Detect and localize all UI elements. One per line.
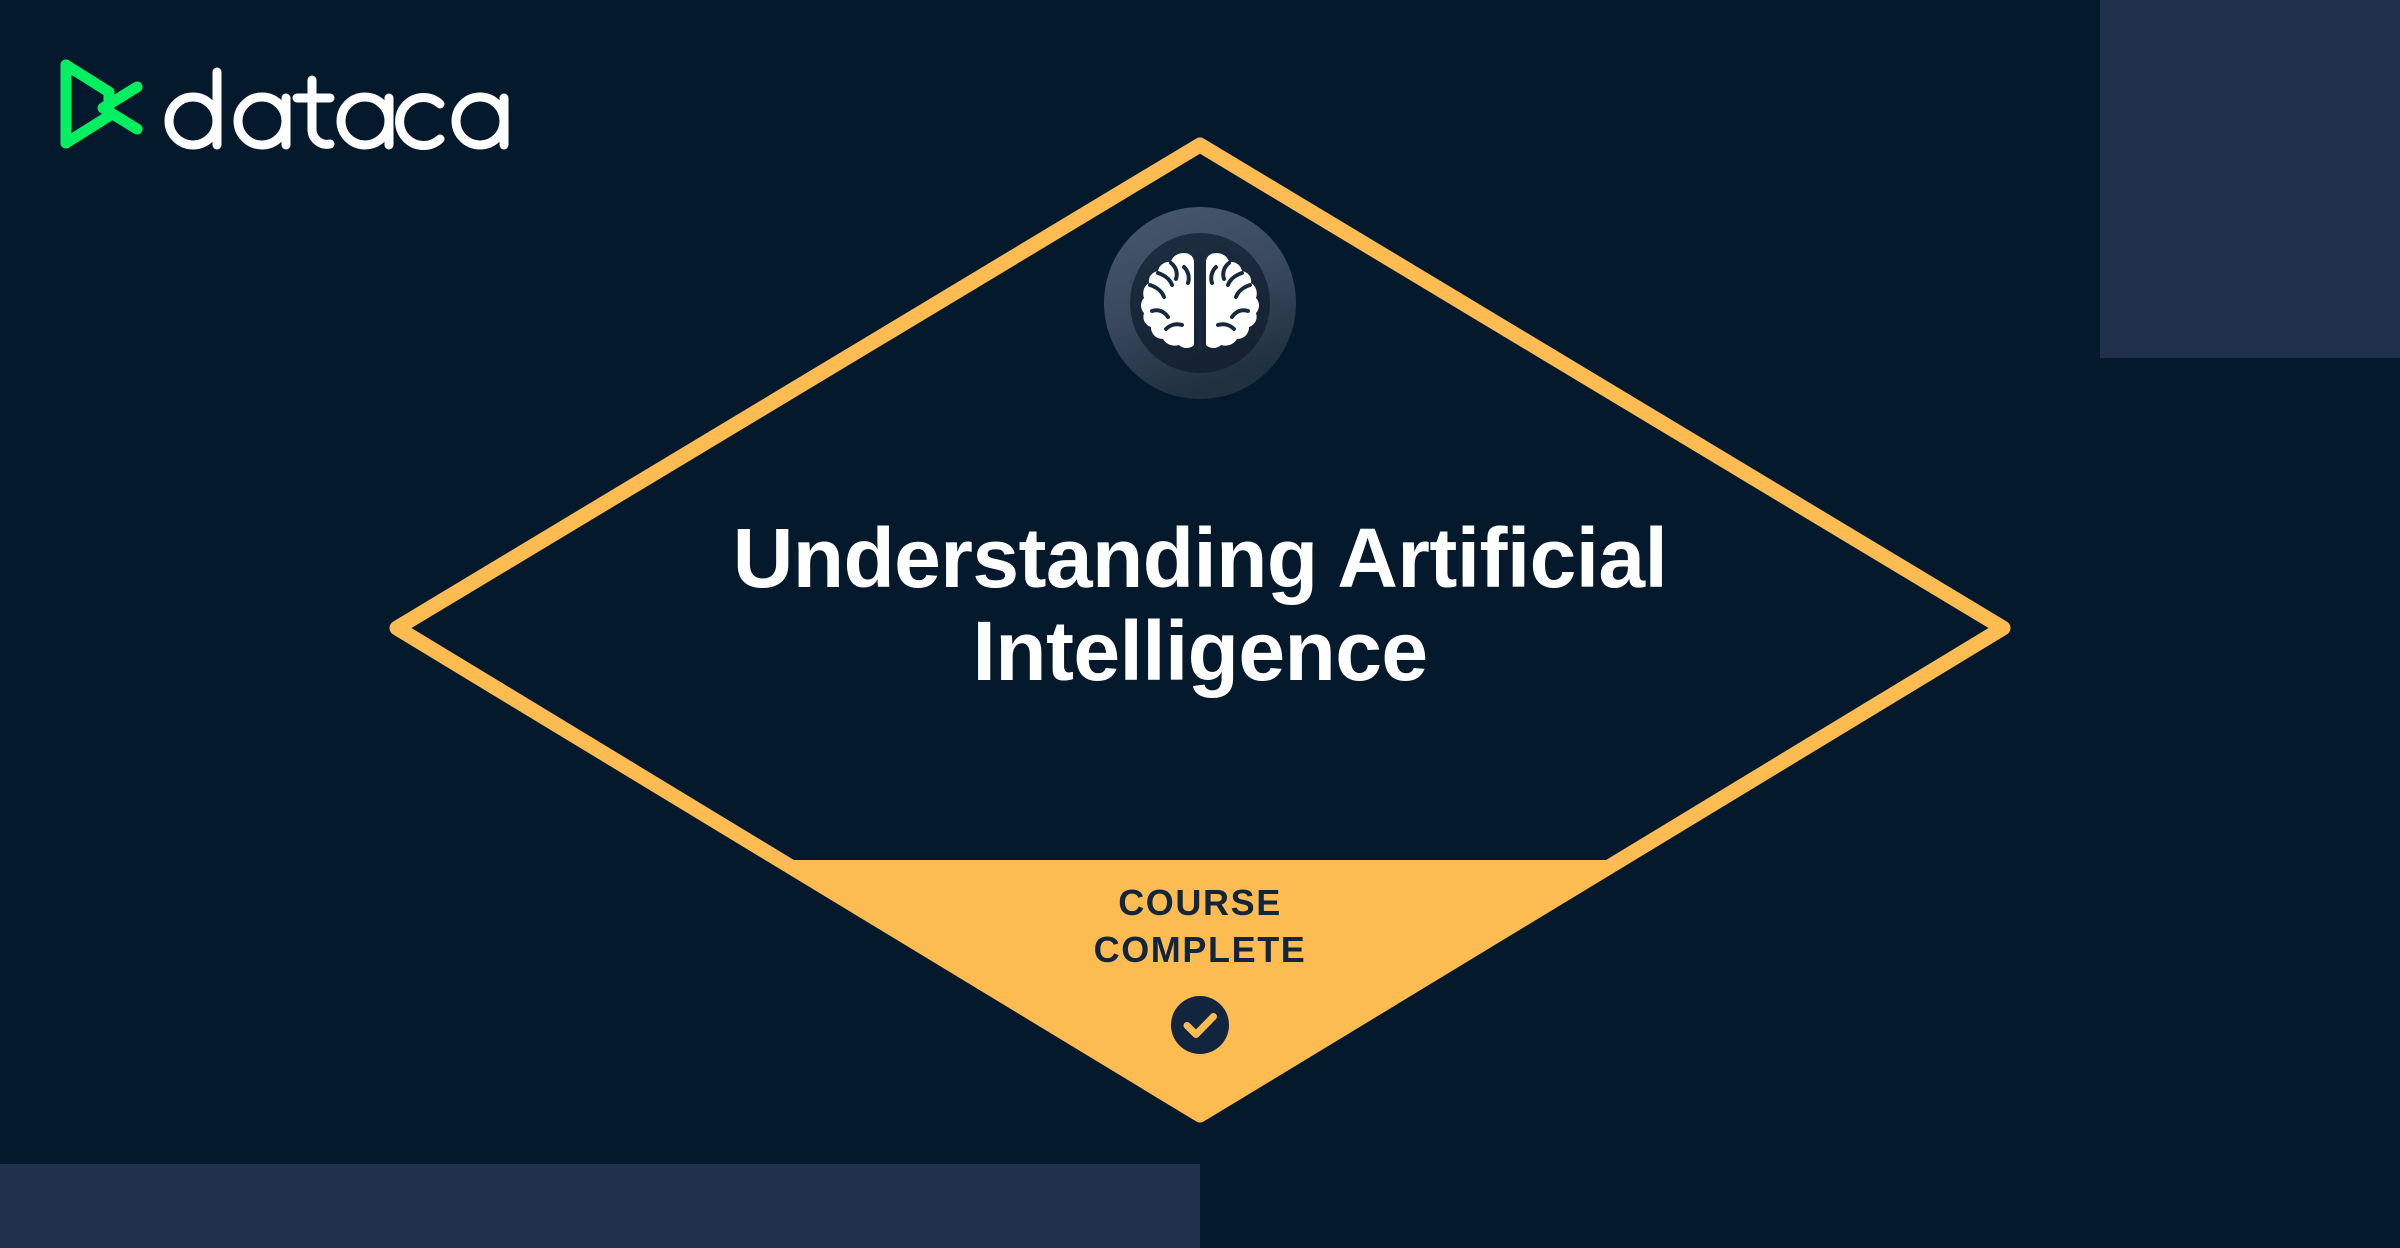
certificate-canvas: Understanding Artificial Intelligence CO… xyxy=(0,0,2400,1248)
status-line-2: COMPLETE xyxy=(820,927,1580,974)
datacamp-logo[interactable] xyxy=(58,58,534,155)
datacamp-wordmark xyxy=(162,58,534,155)
check-circle-icon xyxy=(1171,996,1229,1054)
brain-medallion xyxy=(1104,207,1296,399)
status-line-1: COURSE xyxy=(820,880,1580,927)
datacamp-logo-mark-icon xyxy=(58,58,144,155)
course-title: Understanding Artificial Intelligence xyxy=(550,512,1850,698)
course-status: COURSE COMPLETE xyxy=(820,880,1580,1054)
